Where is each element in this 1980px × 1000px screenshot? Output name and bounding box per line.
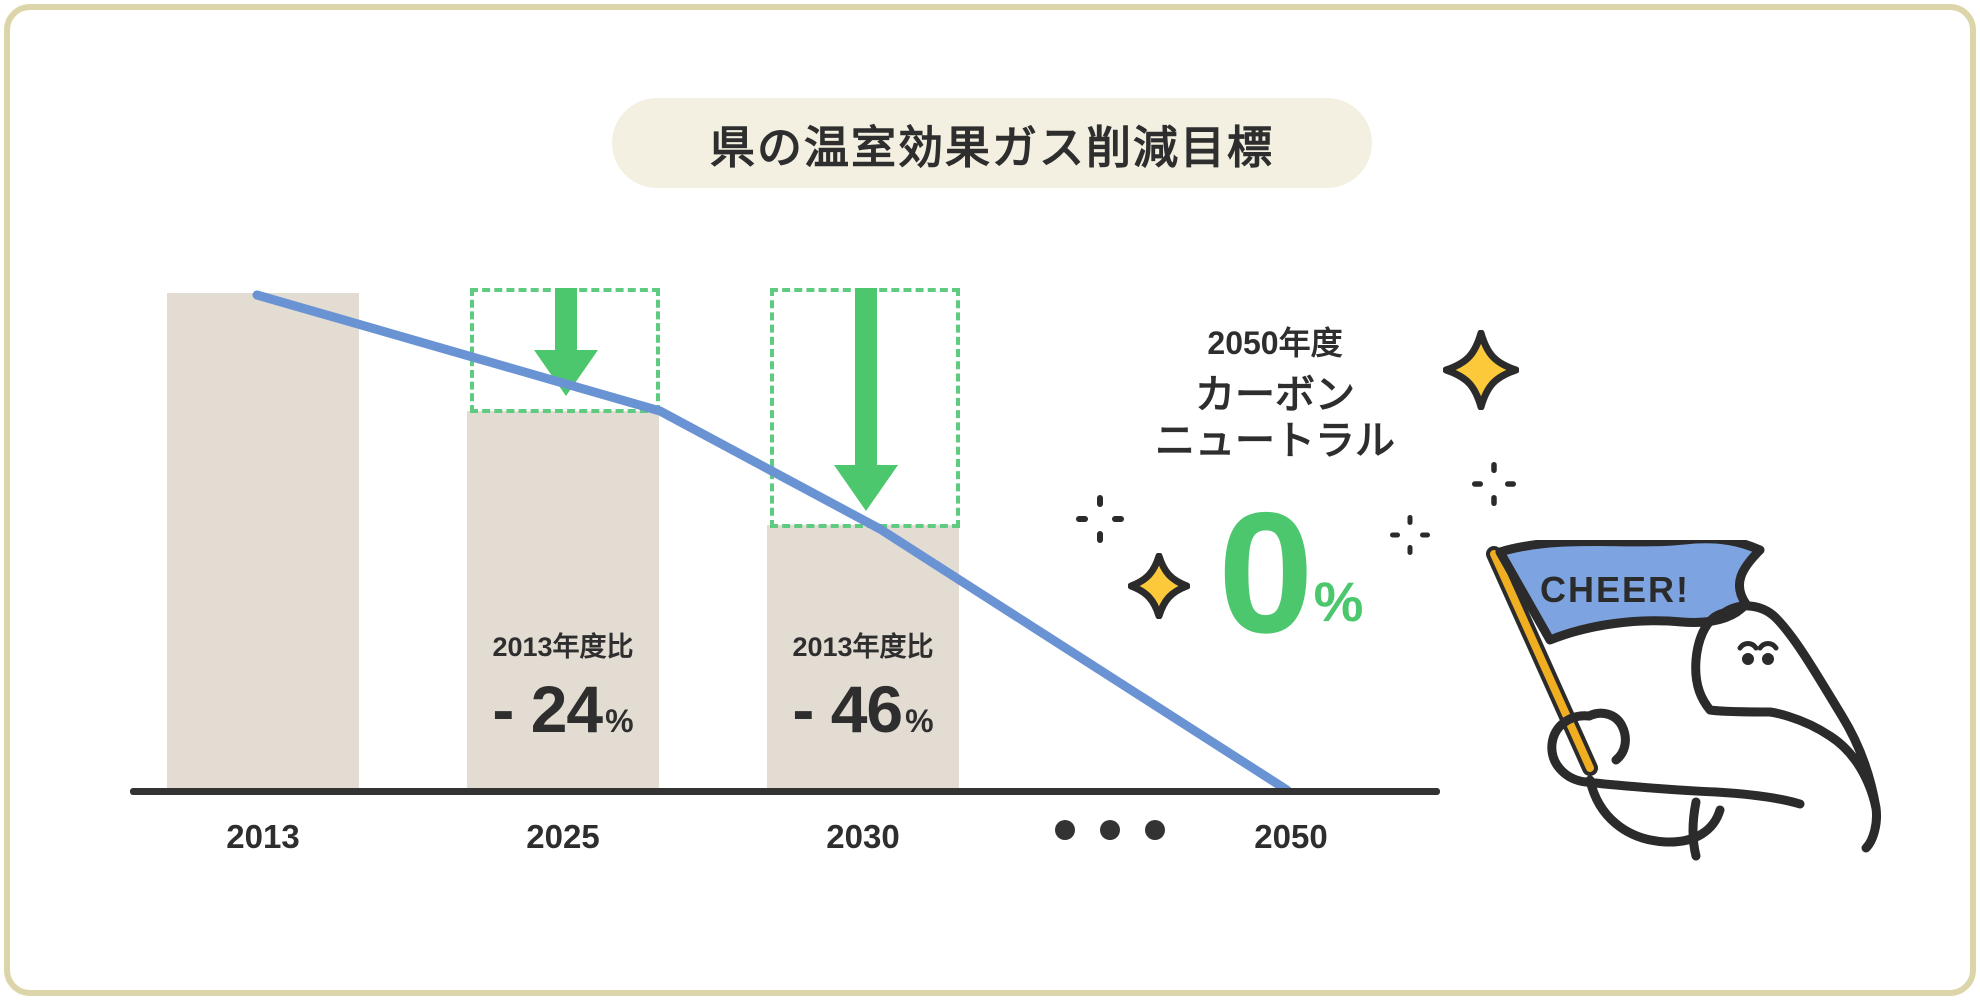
sparkle-cross-icon (1390, 515, 1430, 555)
zero-percent-callout: 0 % (1218, 500, 1363, 648)
mascot-eyes-icon (1740, 644, 1776, 666)
bar-note-2025: 2013年度比 - 24% (467, 625, 659, 742)
bar-note-2025-baseline: 2013年度比 (467, 625, 659, 664)
sparkle-star-small-icon (1128, 553, 1190, 619)
neutral-line-1: カーボン (1140, 372, 1410, 418)
x-tick-2025: 2025 (467, 818, 659, 856)
mascot-with-flag: CHEER! (1470, 540, 1900, 900)
x-tick-2030: 2030 (767, 818, 959, 856)
x-axis-line (130, 788, 1440, 795)
ellipsis-dot (1145, 820, 1165, 840)
bar-note-2030-unit: % (905, 703, 933, 739)
x-axis-ellipsis (1055, 820, 1165, 840)
carbon-neutral-callout: 2050年度 カーボン ニュートラル (1140, 318, 1410, 465)
sparkle-cross-icon (1472, 462, 1516, 506)
sparkle-cross-icon (1076, 495, 1124, 543)
flag-label: CHEER! (1540, 569, 1690, 610)
sparkle-star-icon (1443, 330, 1519, 410)
bar-note-2025-value: - 24 (492, 672, 602, 746)
bar-note-2030-value: - 46 (792, 672, 902, 746)
ellipsis-dot (1055, 820, 1075, 840)
infographic-canvas: 県の温室効果ガス削減目標 2013年度比 - 24% 2013年度比 (0, 0, 1980, 1000)
zero-value: 0 (1218, 500, 1310, 648)
mascot-body-icon (1552, 606, 1877, 856)
bar-note-2025-unit: % (605, 703, 633, 739)
ellipsis-dot (1100, 820, 1120, 840)
x-tick-2013: 2013 (167, 818, 359, 856)
bar-note-2030: 2013年度比 - 46% (767, 625, 959, 742)
neutral-year-label: 2050年度 (1140, 318, 1410, 364)
neutral-line-2: ニュートラル (1140, 418, 1410, 464)
x-tick-2050: 2050 (1195, 818, 1387, 856)
zero-percent-sign: % (1314, 574, 1364, 630)
bar-note-2030-baseline: 2013年度比 (767, 625, 959, 664)
